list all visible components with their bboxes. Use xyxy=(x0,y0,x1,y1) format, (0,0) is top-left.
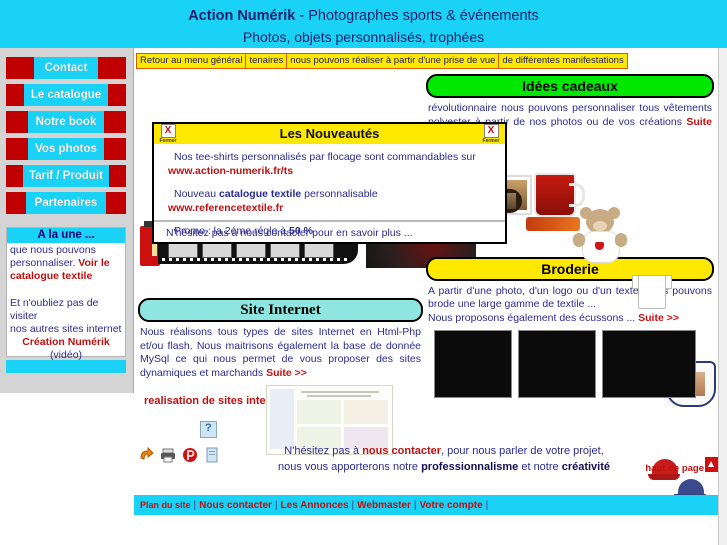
printer-icon[interactable] xyxy=(160,447,176,463)
site-internet-banner: Site Internet xyxy=(138,298,423,322)
nav-item-partenaires[interactable]: tenaires xyxy=(245,53,287,69)
contact-word-professionnalisme: professionnalisme xyxy=(421,461,518,473)
nav-item-prise-de-vue[interactable]: nous pouvons réaliser à partir d'une pri… xyxy=(286,53,499,69)
contact-link-nous-contacter[interactable]: nous contacter xyxy=(362,445,441,457)
nouveautes-popup: Les Nouveautés X Fermer X Fermer Nos tee… xyxy=(152,122,507,244)
popup-p1-link[interactable]: www.action-numerik.fr/ts xyxy=(168,165,293,177)
sidebar-item-label: Vos photos xyxy=(6,138,126,160)
top-nav-strip: Retour au menu général tenaires nous pou… xyxy=(136,53,627,69)
popup-footer-text: N'hésitez pas à nous contacter pour en s… xyxy=(154,224,505,242)
sidebar-item-catalogue[interactable]: Le catalogue xyxy=(6,84,126,106)
brand-name: Action Numérik xyxy=(188,8,295,24)
a-la-une-link-voir-le[interactable]: Voir le xyxy=(78,257,109,269)
footer-separator: | xyxy=(483,500,492,511)
tool-icons-group xyxy=(138,447,220,463)
sidebar-menu: Contact Le catalogue Notre book Vos phot… xyxy=(6,57,126,219)
embroidery-sample-1 xyxy=(434,330,512,398)
sidebar-accent-bar xyxy=(6,360,126,373)
teddy-bear-product-image xyxy=(576,209,624,265)
sidebar-item-vos-photos[interactable]: Vos photos xyxy=(6,138,126,160)
popup-p1-text: Nos tee-shirts personnalisés par flocage… xyxy=(168,151,476,163)
footer-separator: | xyxy=(272,500,281,511)
broderie-suite-link[interactable]: Suite >> xyxy=(638,312,679,324)
right-scrollbar-edge[interactable] xyxy=(718,48,727,545)
footer-separator: | xyxy=(191,500,200,511)
left-sidebar: Contact Le catalogue Notre book Vos phot… xyxy=(0,48,134,393)
a-la-une-title: A la une ... xyxy=(7,228,125,243)
header-subtitle: Photos, objets personnalisés, trophées xyxy=(0,24,727,45)
close-glyph: X xyxy=(484,124,499,138)
sidebar-item-tarif-produit[interactable]: Tarif / Produit xyxy=(6,165,126,187)
contact-word-creativite: créativité xyxy=(562,461,610,473)
footer-link-webmaster[interactable]: Webmaster xyxy=(357,500,411,511)
site-header: Action Numérik - Photographes sports & é… xyxy=(0,0,727,48)
sidebar-item-label: Le catalogue xyxy=(6,84,126,106)
a-la-une-panel: A la une ... que nous pouvons personnali… xyxy=(6,227,126,357)
contact-invitation-text: N'hésitez pas à nous contacter, pour nou… xyxy=(254,443,634,475)
mug-product-image xyxy=(534,173,576,217)
back-arrow-icon[interactable] xyxy=(138,447,154,463)
header-title-line: Action Numérik - Photographes sports & é… xyxy=(0,0,727,24)
popup-title-bar: Les Nouveautés X Fermer X Fermer xyxy=(154,124,505,144)
popup-paragraph-2: Nouveau catalogue textile personnalisabl… xyxy=(168,187,495,215)
broderie-body2: Nous proposons également des écussons ..… xyxy=(428,312,635,324)
contact-line1-suffix: , pour nous parler de votre projet, xyxy=(441,445,604,457)
sidebar-item-contact[interactable]: Contact xyxy=(6,57,126,79)
haut-de-page-link[interactable]: haut de page xyxy=(645,463,704,474)
close-label: Fermer xyxy=(155,138,181,156)
popup-title-text: Les Nouveautés xyxy=(280,126,380,141)
popup-paragraph-1: Nos tee-shirts personnalisés par flocage… xyxy=(168,150,495,178)
footer-separator: | xyxy=(349,500,358,511)
sidebar-item-label: Notre book xyxy=(6,111,126,133)
popup-p2-mid: personnalisable xyxy=(301,188,377,200)
contact-line2-prefix: nous vous apporterons notre xyxy=(278,461,421,473)
popup-p2-bold: catalogue textile xyxy=(219,188,301,200)
a-la-une-body: que nous pouvons personnaliser. Voir le … xyxy=(7,243,125,362)
embroidery-sample-3 xyxy=(602,330,696,398)
close-label: Fermer xyxy=(478,138,504,156)
a-la-une-line3: Et n'oubliez pas de visiter xyxy=(10,297,122,323)
sidebar-item-notre-book[interactable]: Notre book xyxy=(6,111,126,133)
a-la-une-link-creation-numerik[interactable]: Création Numérik xyxy=(10,336,122,349)
sidebar-item-label: Contact xyxy=(6,57,126,79)
footer-links-bar: Plan du site|Nous contacter|Les Annonces… xyxy=(134,495,718,515)
footer-link-les-annonces[interactable]: Les Annonces xyxy=(281,500,349,511)
footer-link-nous-contacter[interactable]: Nous contacter xyxy=(199,500,272,511)
a-la-une-line2: personnaliser. xyxy=(10,257,75,269)
scroll-to-top-icon[interactable] xyxy=(705,457,718,472)
contact-line2-mid: et notre xyxy=(518,461,561,473)
a-la-une-link-catalogue-textile[interactable]: catalogue textile xyxy=(10,270,122,283)
sidebar-item-label: Tarif / Produit xyxy=(6,165,126,187)
site-internet-suite-link[interactable]: Suite >> xyxy=(266,367,307,379)
tshirt-product-image xyxy=(634,271,668,307)
close-icon[interactable]: X Fermer xyxy=(155,124,181,144)
popup-divider xyxy=(154,220,505,222)
nav-item-retour-menu[interactable]: Retour au menu général xyxy=(136,53,246,69)
footer-link-votre-compte[interactable]: Votre compte xyxy=(419,500,482,511)
broderie-text: A partir d'une photo, d'un logo ou d'un … xyxy=(426,284,714,326)
sidebar-item-label: Partenaires xyxy=(6,192,126,214)
embroidery-sample-2 xyxy=(518,330,596,398)
popup-p2-link[interactable]: www.referencetextile.fr xyxy=(168,202,283,214)
popup-p2-prefix: Nouveau xyxy=(168,188,219,200)
idees-cadeaux-banner: Idées cadeaux xyxy=(426,74,714,98)
a-la-une-line4: nos autres sites internet xyxy=(10,323,122,336)
a-la-une-line1: que nous pouvons xyxy=(10,244,122,257)
pen-product-image xyxy=(526,217,580,231)
sidebar-item-partenaires[interactable]: Partenaires xyxy=(6,192,126,214)
page-icon[interactable] xyxy=(204,447,220,463)
footer-link-plan-du-site[interactable]: Plan du site xyxy=(140,500,191,510)
contact-line1-prefix: N'hésitez pas à xyxy=(284,445,362,457)
broderie-body1: A partir d'une photo, d'un logo ou d'un … xyxy=(428,285,712,312)
stop-icon[interactable] xyxy=(182,447,198,463)
page-body: Contact Le catalogue Notre book Vos phot… xyxy=(0,48,727,545)
site-internet-text: Nous réalisons tous types de sites Inter… xyxy=(138,325,423,380)
bottom-contact-block: N'hésitez pas à nous contacter, pour nou… xyxy=(134,441,718,493)
nav-item-manifestations[interactable]: de différentes manifestations xyxy=(498,53,627,69)
brand-tagline: - Photographes sports & événements xyxy=(295,8,538,24)
broken-image-icon xyxy=(200,421,217,438)
close-glyph: X xyxy=(161,124,176,138)
embroidery-samples-row xyxy=(426,328,714,400)
close-icon[interactable]: X Fermer xyxy=(478,124,504,144)
